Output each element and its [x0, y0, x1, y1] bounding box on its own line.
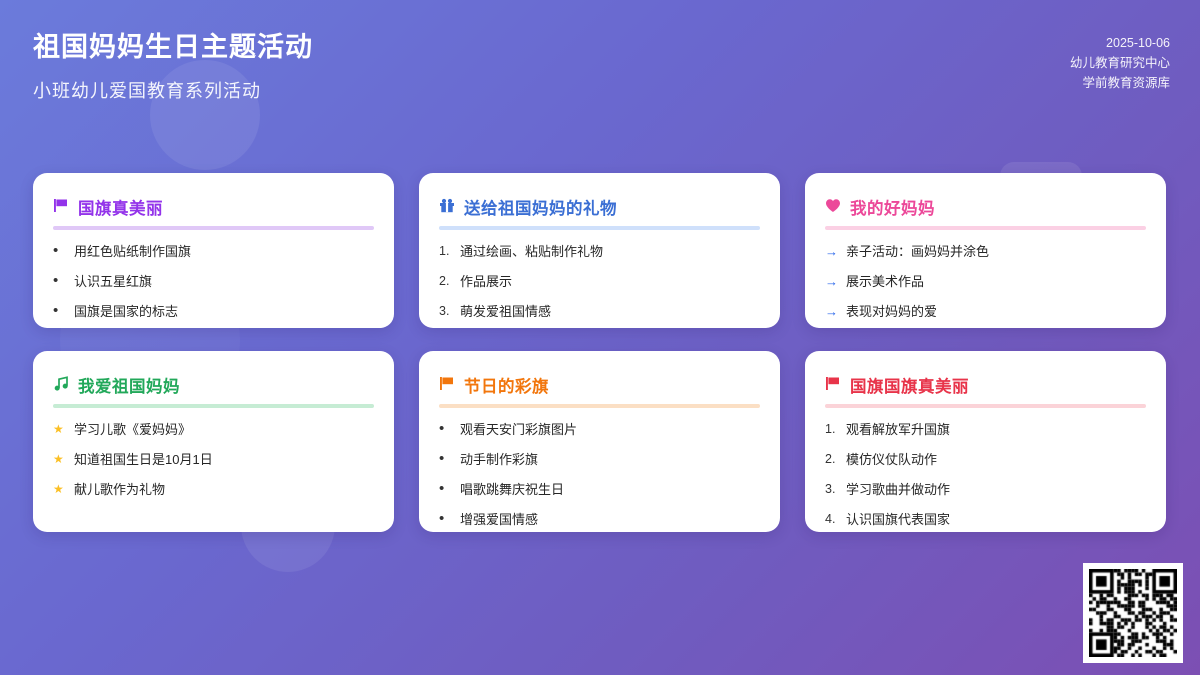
list-item: →亲子活动：画妈妈并涂色 — [825, 243, 1146, 260]
heart-icon — [825, 198, 841, 217]
activity-card[interactable]: 节日的彩旗•观看天安门彩旗图片•动手制作彩旗•唱歌跳舞庆祝生日•增强爱国情感 — [419, 351, 780, 532]
list-item-text: 学习儿歌《爱妈妈》 — [74, 421, 374, 438]
list-item-text: 学习歌曲并做动作 — [846, 481, 1146, 498]
card-accent-rule — [825, 226, 1146, 230]
activity-card[interactable]: 国旗国旗真美丽1.观看解放军升国旗2.模仿仪仗队动作3.学习歌曲并做动作4.认识… — [805, 351, 1166, 532]
list-item: 3.萌发爱祖国情感 — [439, 303, 760, 320]
list-item-text: 认识国旗代表国家 — [846, 511, 1146, 528]
card-accent-rule — [825, 404, 1146, 408]
card-header: 我爱祖国妈妈 — [53, 373, 374, 397]
card-header: 国旗真美丽 — [53, 195, 374, 219]
list-item: 3.学习歌曲并做动作 — [825, 481, 1146, 498]
list-item-text: 表现对妈妈的爱 — [846, 303, 1146, 320]
list-item: →展示美术作品 — [825, 273, 1146, 290]
list-marker: 4. — [825, 511, 838, 528]
list-item-text: 作品展示 — [460, 273, 760, 290]
list-marker: 1. — [825, 421, 838, 438]
list-item-text: 模仿仪仗队动作 — [846, 451, 1146, 468]
page-subtitle: 小班幼儿爱国教育系列活动 — [33, 79, 261, 103]
list-marker: 1. — [439, 243, 452, 260]
list-item: •认识五星红旗 — [53, 273, 374, 290]
card-item-list: ★学习儿歌《爱妈妈》★知道祖国生日是10月1日★献儿歌作为礼物 — [53, 421, 374, 498]
list-marker: → — [825, 303, 838, 320]
list-item: 1.观看解放军升国旗 — [825, 421, 1146, 438]
list-item-text: 亲子活动：画妈妈并涂色 — [846, 243, 1146, 260]
card-title: 节日的彩旗 — [464, 373, 549, 397]
card-row-1: 国旗真美丽•用红色贴纸制作国旗•认识五星红旗•国旗是国家的标志 送给祖国妈妈的礼… — [33, 173, 1167, 328]
flag-purple-icon — [53, 198, 69, 217]
list-item-text: 展示美术作品 — [846, 273, 1146, 290]
list-marker: • — [439, 511, 452, 526]
card-header: 我的好妈妈 — [825, 195, 1146, 219]
header-meta: 2025-10-06 幼儿教育研究中心 学前教育资源库 — [1070, 33, 1170, 93]
card-title: 国旗真美丽 — [78, 195, 163, 219]
list-item: •唱歌跳舞庆祝生日 — [439, 481, 760, 498]
list-item: →表现对妈妈的爱 — [825, 303, 1146, 320]
list-marker: ★ — [53, 481, 66, 498]
card-grid: 国旗真美丽•用红色贴纸制作国旗•认识五星红旗•国旗是国家的标志 送给祖国妈妈的礼… — [33, 173, 1167, 532]
card-item-list: 1.观看解放军升国旗2.模仿仪仗队动作3.学习歌曲并做动作4.认识国旗代表国家 — [825, 421, 1146, 528]
card-header: 节日的彩旗 — [439, 373, 760, 397]
list-item: ★学习儿歌《爱妈妈》 — [53, 421, 374, 438]
page-title: 祖国妈妈生日主题活动 — [33, 30, 313, 64]
card-accent-rule — [53, 226, 374, 230]
list-marker: 2. — [439, 273, 452, 290]
list-item: 4.认识国旗代表国家 — [825, 511, 1146, 528]
list-item: 2.作品展示 — [439, 273, 760, 290]
activity-card[interactable]: 国旗真美丽•用红色贴纸制作国旗•认识五星红旗•国旗是国家的标志 — [33, 173, 394, 328]
list-item: •观看天安门彩旗图片 — [439, 421, 760, 438]
list-item: ★献儿歌作为礼物 — [53, 481, 374, 498]
card-title: 我的好妈妈 — [850, 195, 935, 219]
list-item-text: 知道祖国生日是10月1日 — [74, 451, 374, 468]
list-marker: → — [825, 243, 838, 260]
list-marker: • — [53, 273, 66, 288]
card-header: 国旗国旗真美丽 — [825, 373, 1146, 397]
list-marker: → — [825, 273, 838, 290]
flag-red-icon — [825, 376, 841, 395]
activity-card[interactable]: 我的好妈妈→亲子活动：画妈妈并涂色→展示美术作品→表现对妈妈的爱 — [805, 173, 1166, 328]
list-marker: • — [53, 303, 66, 318]
list-item-text: 献儿歌作为礼物 — [74, 481, 374, 498]
card-accent-rule — [439, 226, 760, 230]
header-org: 幼儿教育研究中心 — [1070, 53, 1170, 73]
list-item-text: 唱歌跳舞庆祝生日 — [460, 481, 760, 498]
list-marker: • — [439, 421, 452, 436]
list-item-text: 萌发爱祖国情感 — [460, 303, 760, 320]
list-marker: 3. — [825, 481, 838, 498]
card-title: 国旗国旗真美丽 — [850, 373, 969, 397]
flag-orange-icon — [439, 376, 455, 395]
list-marker: • — [439, 481, 452, 496]
list-item-text: 增强爱国情感 — [460, 511, 760, 528]
list-item-text: 动手制作彩旗 — [460, 451, 760, 468]
card-accent-rule — [439, 404, 760, 408]
card-title: 我爱祖国妈妈 — [78, 373, 180, 397]
list-item: •增强爱国情感 — [439, 511, 760, 528]
card-item-list: →亲子活动：画妈妈并涂色→展示美术作品→表现对妈妈的爱 — [825, 243, 1146, 320]
list-marker: ★ — [53, 421, 66, 438]
list-item-text: 通过绘画、粘贴制作礼物 — [460, 243, 760, 260]
activity-card[interactable]: 我爱祖国妈妈★学习儿歌《爱妈妈》★知道祖国生日是10月1日★献儿歌作为礼物 — [33, 351, 394, 532]
list-marker: 3. — [439, 303, 452, 320]
gift-icon — [439, 198, 455, 217]
header-date: 2025-10-06 — [1070, 33, 1170, 53]
list-marker: • — [53, 243, 66, 258]
list-marker: • — [439, 451, 452, 466]
header-source: 学前教育资源库 — [1070, 73, 1170, 93]
card-item-list: •用红色贴纸制作国旗•认识五星红旗•国旗是国家的标志 — [53, 243, 374, 320]
list-marker: 2. — [825, 451, 838, 468]
qr-code-container[interactable] — [1083, 563, 1183, 663]
list-item-text: 观看天安门彩旗图片 — [460, 421, 760, 438]
list-item: •用红色贴纸制作国旗 — [53, 243, 374, 260]
card-row-2: 我爱祖国妈妈★学习儿歌《爱妈妈》★知道祖国生日是10月1日★献儿歌作为礼物 节日… — [33, 351, 1167, 532]
music-note-icon — [53, 376, 69, 395]
activity-card[interactable]: 送给祖国妈妈的礼物1.通过绘画、粘贴制作礼物2.作品展示3.萌发爱祖国情感 — [419, 173, 780, 328]
list-item: 2.模仿仪仗队动作 — [825, 451, 1146, 468]
list-marker: ★ — [53, 451, 66, 468]
card-title: 送给祖国妈妈的礼物 — [464, 195, 617, 219]
qr-code — [1089, 569, 1177, 657]
list-item: •国旗是国家的标志 — [53, 303, 374, 320]
card-item-list: 1.通过绘画、粘贴制作礼物2.作品展示3.萌发爱祖国情感 — [439, 243, 760, 320]
list-item-text: 用红色贴纸制作国旗 — [74, 243, 374, 260]
page-header: 祖国妈妈生日主题活动 小班幼儿爱国教育系列活动 2025-10-06 幼儿教育研… — [0, 0, 1200, 150]
list-item: 1.通过绘画、粘贴制作礼物 — [439, 243, 760, 260]
list-item: ★知道祖国生日是10月1日 — [53, 451, 374, 468]
list-item-text: 认识五星红旗 — [74, 273, 374, 290]
card-header: 送给祖国妈妈的礼物 — [439, 195, 760, 219]
card-accent-rule — [53, 404, 374, 408]
list-item-text: 国旗是国家的标志 — [74, 303, 374, 320]
card-item-list: •观看天安门彩旗图片•动手制作彩旗•唱歌跳舞庆祝生日•增强爱国情感 — [439, 421, 760, 528]
list-item-text: 观看解放军升国旗 — [846, 421, 1146, 438]
list-item: •动手制作彩旗 — [439, 451, 760, 468]
